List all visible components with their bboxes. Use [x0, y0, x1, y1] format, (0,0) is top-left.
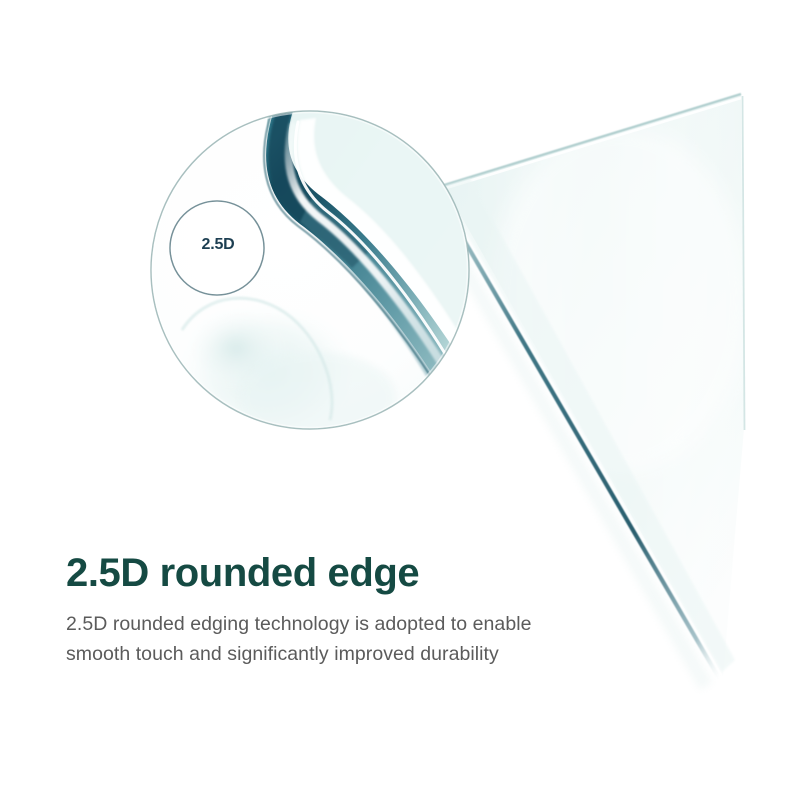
feature-copy: 2.5D rounded edge 2.5D rounded edging te… — [66, 552, 666, 670]
feature-description-line-1: 2.5D rounded edging technology is adopte… — [66, 609, 666, 639]
detail-circle — [170, 201, 264, 295]
product-feature-graphic: 2.5D 2.5D rounded edge 2.5D rounded edgi… — [0, 0, 800, 800]
feature-description: 2.5D rounded edging technology is adopte… — [66, 595, 666, 669]
feature-description-line-2: smooth touch and significantly improved … — [66, 639, 666, 669]
page-title: 2.5D rounded edge — [66, 552, 666, 595]
glass-illustration — [0, 0, 800, 800]
